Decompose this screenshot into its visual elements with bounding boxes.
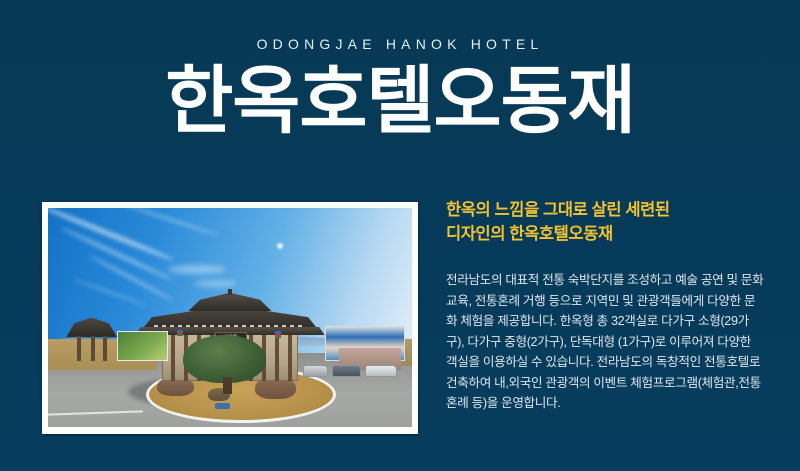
- blue-object: [215, 403, 230, 410]
- brand-eyebrow: ODONGJAE HANOK HOTEL: [0, 36, 800, 52]
- left-signboard: [117, 331, 168, 362]
- pine-tree-trunk: [223, 377, 232, 395]
- pavilion-post: [103, 336, 107, 361]
- dancheong-ornament: [177, 330, 183, 336]
- hanok-hotel-exterior-photo: 梧桐齋: [48, 208, 412, 427]
- parked-car: [303, 365, 328, 377]
- lead-heading-line-1: 한옥의 느낌을 그대로 살린 세련된: [446, 198, 764, 222]
- pavilion: [66, 318, 117, 362]
- parked-car: [332, 365, 361, 377]
- parked-car: [365, 365, 398, 377]
- pavilion-post: [91, 336, 95, 361]
- body-paragraph: 전라남도의 대표적 전통 숙박단지를 조성하고 예술 공연 및 문화교육, 전통…: [446, 270, 764, 414]
- lead-heading-line-2: 디자인의 한옥호텔오동재: [446, 222, 764, 246]
- photo-frame: 梧桐齋: [42, 202, 418, 434]
- roof-finial: [228, 289, 232, 295]
- body-copy: 전라남도의 대표적 전통 숙박단지를 조성하고 예술 공연 및 문화교육, 전통…: [446, 270, 764, 414]
- text-column: 한옥의 느낌을 그대로 살린 세련된 디자인의 한옥호텔오동재 전라남도의 대표…: [446, 198, 764, 414]
- pavilion-roof: [66, 318, 117, 338]
- banner-header: ODONGJAE HANOK HOTEL 한옥호텔오동재: [0, 0, 800, 144]
- lead-heading: 한옥의 느낌을 그대로 살린 세련된 디자인의 한옥호텔오동재: [446, 198, 764, 246]
- cloud: [168, 265, 226, 274]
- page-title: 한옥호텔오동재: [0, 58, 800, 144]
- promo-banner: ODONGJAE HANOK HOTEL 한옥호텔오동재: [0, 0, 800, 471]
- dancheong-ornament: [275, 331, 281, 337]
- pavilion-post: [77, 336, 81, 361]
